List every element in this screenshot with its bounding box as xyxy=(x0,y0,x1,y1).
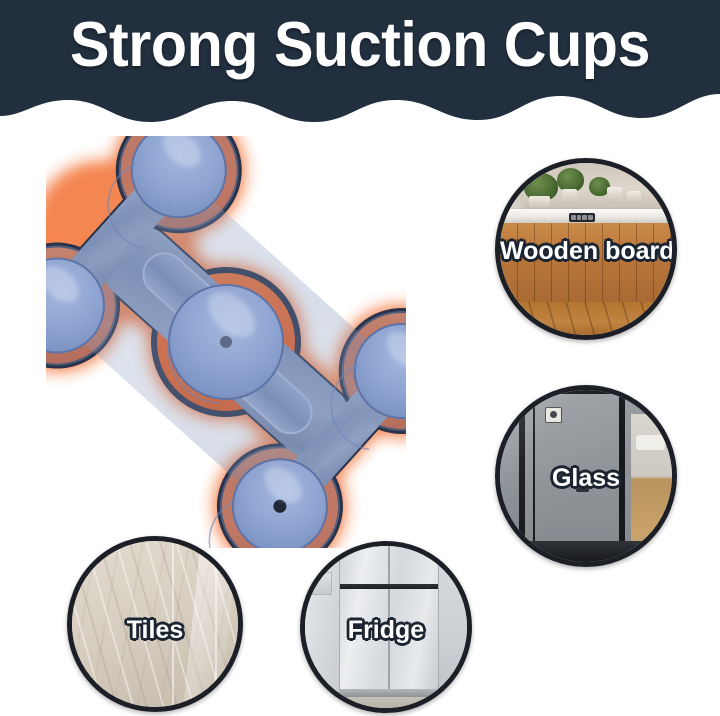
surface-inset-fridge: Fridge xyxy=(300,541,472,713)
product-image xyxy=(46,136,406,548)
surface-label-wooden-board: Wooden board xyxy=(500,237,672,265)
product-marketing-image: Strong Suction Cups xyxy=(0,0,720,716)
page-title: Strong Suction Cups xyxy=(22,9,699,81)
surface-inset-tiles: Tiles xyxy=(67,536,243,712)
header-banner: Strong Suction Cups xyxy=(0,0,720,134)
surface-label-fridge: Fridge xyxy=(305,616,467,644)
surface-label-tiles: Tiles xyxy=(72,616,238,644)
suction-cup-frame-svg xyxy=(46,136,406,548)
surface-inset-wooden-board: Wooden board xyxy=(495,158,677,340)
surface-label-glass: Glass xyxy=(500,464,672,492)
surface-inset-glass: Glass xyxy=(495,385,677,567)
